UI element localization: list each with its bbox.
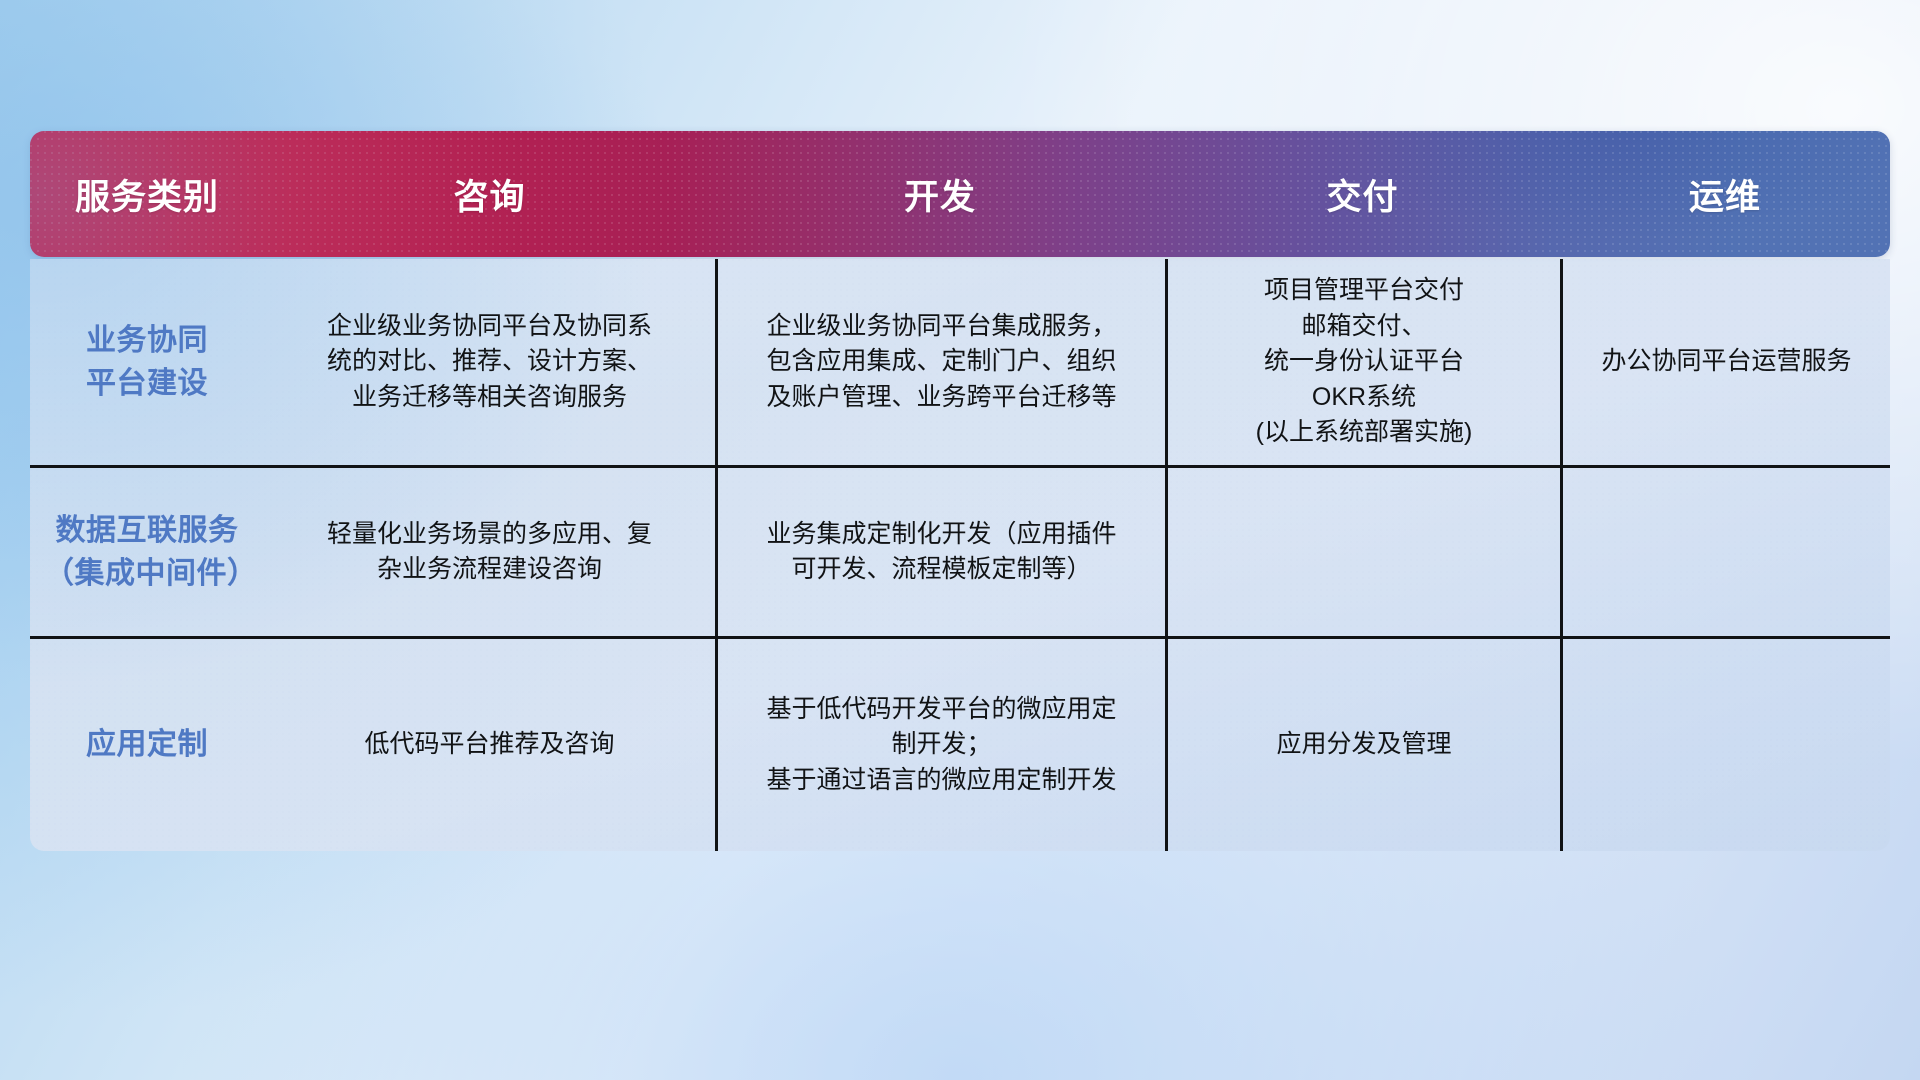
cell-operations: 办公协同平台运营服务	[1560, 259, 1890, 465]
table-header-cell-category: 服务类别	[30, 131, 264, 257]
table-row: 应用定制 低代码平台推荐及咨询 基于低代码开发平台的微应用定 制开发； 基于通过…	[30, 636, 1890, 851]
table-row: 业务协同 平台建设 企业级业务协同平台及协同系 统的对比、推荐、设计方案、 业务…	[30, 259, 1890, 465]
row-category-label: 数据互联服务 （集成中间件）	[30, 468, 264, 636]
table-body: 业务协同 平台建设 企业级业务协同平台及协同系 统的对比、推荐、设计方案、 业务…	[30, 259, 1890, 851]
cell-delivery: 项目管理平台交付 邮箱交付、 统一身份认证平台 OKR系统 (以上系统部署实施)	[1165, 259, 1560, 465]
row-category-label: 业务协同 平台建设	[30, 259, 264, 465]
cell-operations	[1560, 639, 1890, 851]
cell-consulting: 低代码平台推荐及咨询	[264, 639, 715, 851]
row-category-label: 应用定制	[30, 639, 264, 851]
table-header-cell-operations: 运维	[1560, 131, 1890, 257]
table-header-cell-consulting: 咨询	[264, 131, 715, 257]
cell-development: 基于低代码开发平台的微应用定 制开发； 基于通过语言的微应用定制开发	[715, 639, 1165, 851]
slide-canvas: 服务类别 咨询 开发 交付 运维 业务协同 平台建设 企业级业务协同平台及协同系…	[0, 0, 1920, 1080]
table-row: 数据互联服务 （集成中间件） 轻量化业务场景的多应用、复 杂业务流程建设咨询 业…	[30, 465, 1890, 636]
cell-delivery: 应用分发及管理	[1165, 639, 1560, 851]
cell-operations	[1560, 468, 1890, 636]
cell-consulting: 企业级业务协同平台及协同系 统的对比、推荐、设计方案、 业务迁移等相关咨询服务	[264, 259, 715, 465]
table-header-cell-delivery: 交付	[1165, 131, 1560, 257]
cell-development: 业务集成定制化开发（应用插件 可开发、流程模板定制等）	[715, 468, 1165, 636]
cell-consulting: 轻量化业务场景的多应用、复 杂业务流程建设咨询	[264, 468, 715, 636]
cell-development: 企业级业务协同平台集成服务， 包含应用集成、定制门户、组织 及账户管理、业务跨平…	[715, 259, 1165, 465]
table-header-cell-development: 开发	[715, 131, 1165, 257]
service-matrix-table: 服务类别 咨询 开发 交付 运维 业务协同 平台建设 企业级业务协同平台及协同系…	[30, 131, 1890, 851]
table-header-row: 服务类别 咨询 开发 交付 运维	[30, 131, 1890, 257]
cell-delivery	[1165, 468, 1560, 636]
